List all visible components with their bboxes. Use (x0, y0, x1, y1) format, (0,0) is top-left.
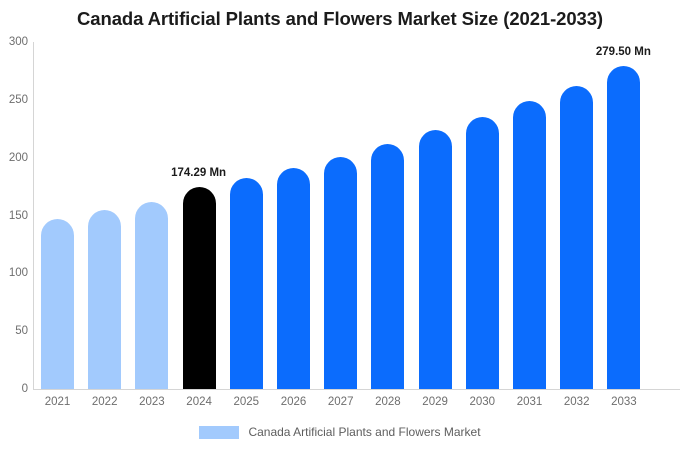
y-tick-label: 150 (0, 210, 28, 222)
y-axis-line (33, 42, 34, 389)
bar-2033[interactable] (607, 66, 640, 389)
x-tick-label-2031: 2031 (507, 396, 552, 408)
bar-2024[interactable] (183, 187, 216, 389)
y-tick-label: 250 (0, 94, 28, 106)
bar-2022[interactable] (88, 210, 121, 389)
bar-2032[interactable] (560, 86, 593, 389)
bar-2023[interactable] (135, 202, 168, 389)
x-tick-label-2032: 2032 (554, 396, 599, 408)
x-tick-label-2025: 2025 (224, 396, 269, 408)
y-tick-label: 0 (0, 383, 28, 395)
data-label-2033: 279.50 Mn (596, 46, 651, 58)
chart-container: Canada Artificial Plants and Flowers Mar… (0, 0, 680, 450)
x-tick-label-2024: 2024 (177, 396, 222, 408)
bar-2029[interactable] (419, 130, 452, 389)
legend-item[interactable]: Canada Artificial Plants and Flowers Mar… (199, 425, 480, 439)
chart-legend: Canada Artificial Plants and Flowers Mar… (0, 425, 680, 439)
x-tick-label-2022: 2022 (82, 396, 127, 408)
x-tick-label-2026: 2026 (271, 396, 316, 408)
y-tick-label: 300 (0, 36, 28, 48)
x-tick-label-2028: 2028 (365, 396, 410, 408)
bar-2021[interactable] (41, 219, 74, 389)
bar-2031[interactable] (513, 101, 546, 389)
y-tick-label: 50 (0, 325, 28, 337)
legend-label: Canada Artificial Plants and Flowers Mar… (248, 425, 480, 439)
y-tick-label: 200 (0, 152, 28, 164)
bar-2028[interactable] (371, 144, 404, 389)
x-tick-label-2030: 2030 (460, 396, 505, 408)
x-tick-label-2027: 2027 (318, 396, 363, 408)
chart-title: Canada Artificial Plants and Flowers Mar… (0, 8, 680, 30)
legend-swatch-icon (199, 426, 239, 439)
y-tick-label: 100 (0, 267, 28, 279)
bar-2026[interactable] (277, 168, 310, 389)
bar-2027[interactable] (324, 157, 357, 389)
data-label-2024: 174.29 Mn (171, 167, 226, 179)
x-tick-label-2023: 2023 (129, 396, 174, 408)
x-axis-line (33, 389, 680, 390)
x-tick-label-2021: 2021 (35, 396, 80, 408)
bar-2030[interactable] (466, 117, 499, 389)
bar-2025[interactable] (230, 178, 263, 389)
x-tick-label-2029: 2029 (413, 396, 458, 408)
x-tick-label-2033: 2033 (601, 396, 646, 408)
